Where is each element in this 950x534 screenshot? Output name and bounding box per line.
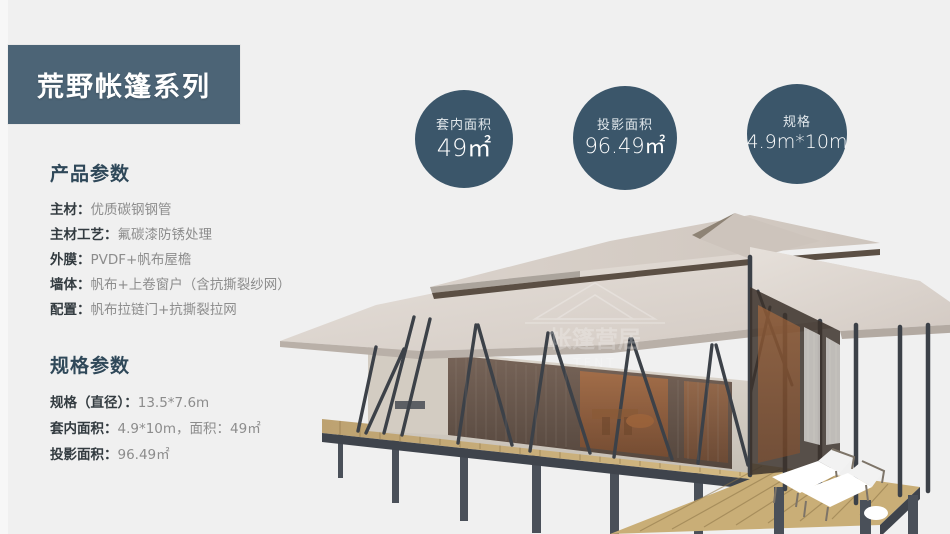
title-banner: 荒野帐篷系列 — [8, 45, 240, 124]
param-value: 帆布拉链门+抗撕裂拉网 — [91, 302, 237, 318]
spec-label: 投影面积： — [50, 447, 118, 463]
spec-value: 4.9*10m，面积：49㎡ — [118, 421, 261, 437]
spec-value: 13.5*7.6m — [138, 395, 209, 411]
tent-render-svg — [280, 195, 950, 534]
param-value: 帆布+上卷窗户（含抗撕裂纱网） — [91, 277, 291, 293]
badge-interior-area: 套内面积 49㎡ — [415, 90, 513, 188]
badge-value: 96.49㎡ — [584, 136, 665, 157]
param-value: 优质碳钢钢管 — [91, 202, 172, 218]
badge-projected-area: 投影面积 96.49㎡ — [573, 86, 677, 190]
badge-label: 投影面积 — [597, 119, 653, 132]
param-label: 墙体： — [50, 277, 91, 293]
param-label: 外膜： — [50, 252, 91, 268]
slide-canvas: 荒野帐篷系列 产品参数 主材：优质碳钢钢管 主材工艺：氟碳漆防锈处理 外膜：PV… — [0, 0, 950, 534]
param-value: 氟碳漆防锈处理 — [118, 227, 213, 243]
param-label: 主材工艺： — [50, 227, 118, 243]
page-title: 荒野帐篷系列 — [37, 65, 211, 104]
param-value: PVDF+帆布屋檐 — [91, 252, 192, 268]
badge-label: 规格 — [783, 116, 811, 129]
spec-value: 96.49㎡ — [118, 447, 170, 463]
badge-value: 4.9m*10m — [747, 133, 848, 152]
badge-value: 49㎡ — [437, 136, 492, 160]
product-parameters-heading: 产品参数 — [50, 163, 350, 186]
tent-illustration — [280, 195, 950, 534]
badge-label: 套内面积 — [436, 119, 492, 132]
left-gutter-strip — [0, 0, 8, 534]
spec-label: 规格（直径）： — [50, 395, 138, 411]
spec-label: 套内面积： — [50, 421, 118, 437]
param-label: 配置： — [50, 302, 91, 318]
badge-dimensions: 规格 4.9m*10m — [747, 84, 847, 184]
param-label: 主材： — [50, 202, 91, 218]
